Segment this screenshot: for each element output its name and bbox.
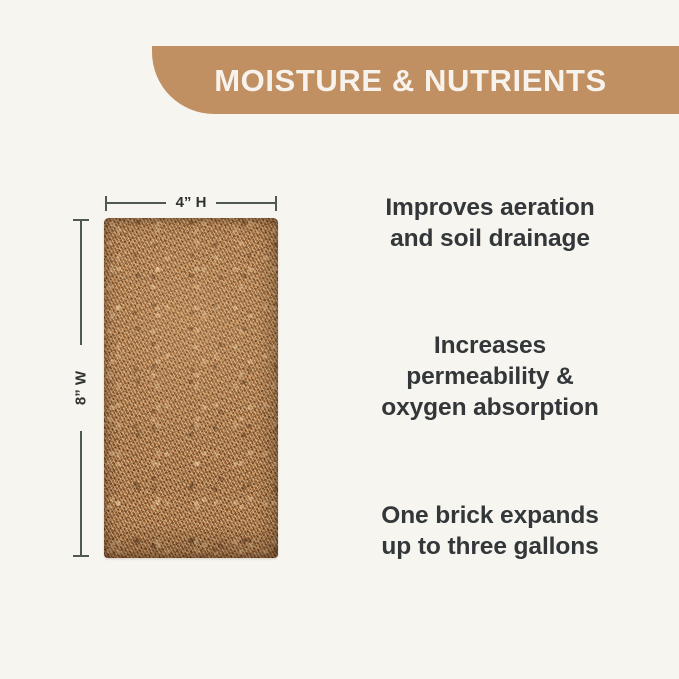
dimension-height-cap-bottom — [73, 555, 89, 557]
benefit-line: Improves aeration — [330, 192, 650, 223]
benefit-line: permeability & — [330, 361, 650, 392]
dimension-width: 4” H — [104, 194, 278, 212]
coco-coir-brick-image — [104, 218, 278, 558]
benefit-item-permeability: Increases permeability & oxygen absorpti… — [330, 330, 650, 423]
dimension-height-rule-top — [80, 220, 82, 345]
benefit-line: Increases — [330, 330, 650, 361]
brick-edge-shading — [104, 218, 278, 558]
dimension-height-label: 8” W — [74, 371, 89, 405]
benefit-item-expansion: One brick expands up to three gallons — [330, 500, 650, 562]
dimension-height: 8” W — [71, 218, 91, 558]
dimension-height-rule-bottom — [80, 431, 82, 556]
benefit-line: oxygen absorption — [330, 392, 650, 423]
benefit-item-aeration: Improves aeration and soil drainage — [330, 192, 650, 254]
dimension-width-cap-right — [275, 196, 277, 211]
product-figure: 4” H 8” W — [0, 0, 330, 679]
benefits-list: Improves aeration and soil drainage Incr… — [330, 0, 679, 679]
benefit-line: up to three gallons — [330, 531, 650, 562]
benefit-line: One brick expands — [330, 500, 650, 531]
dimension-width-rule-right — [216, 202, 276, 204]
benefit-line: and soil drainage — [330, 223, 650, 254]
